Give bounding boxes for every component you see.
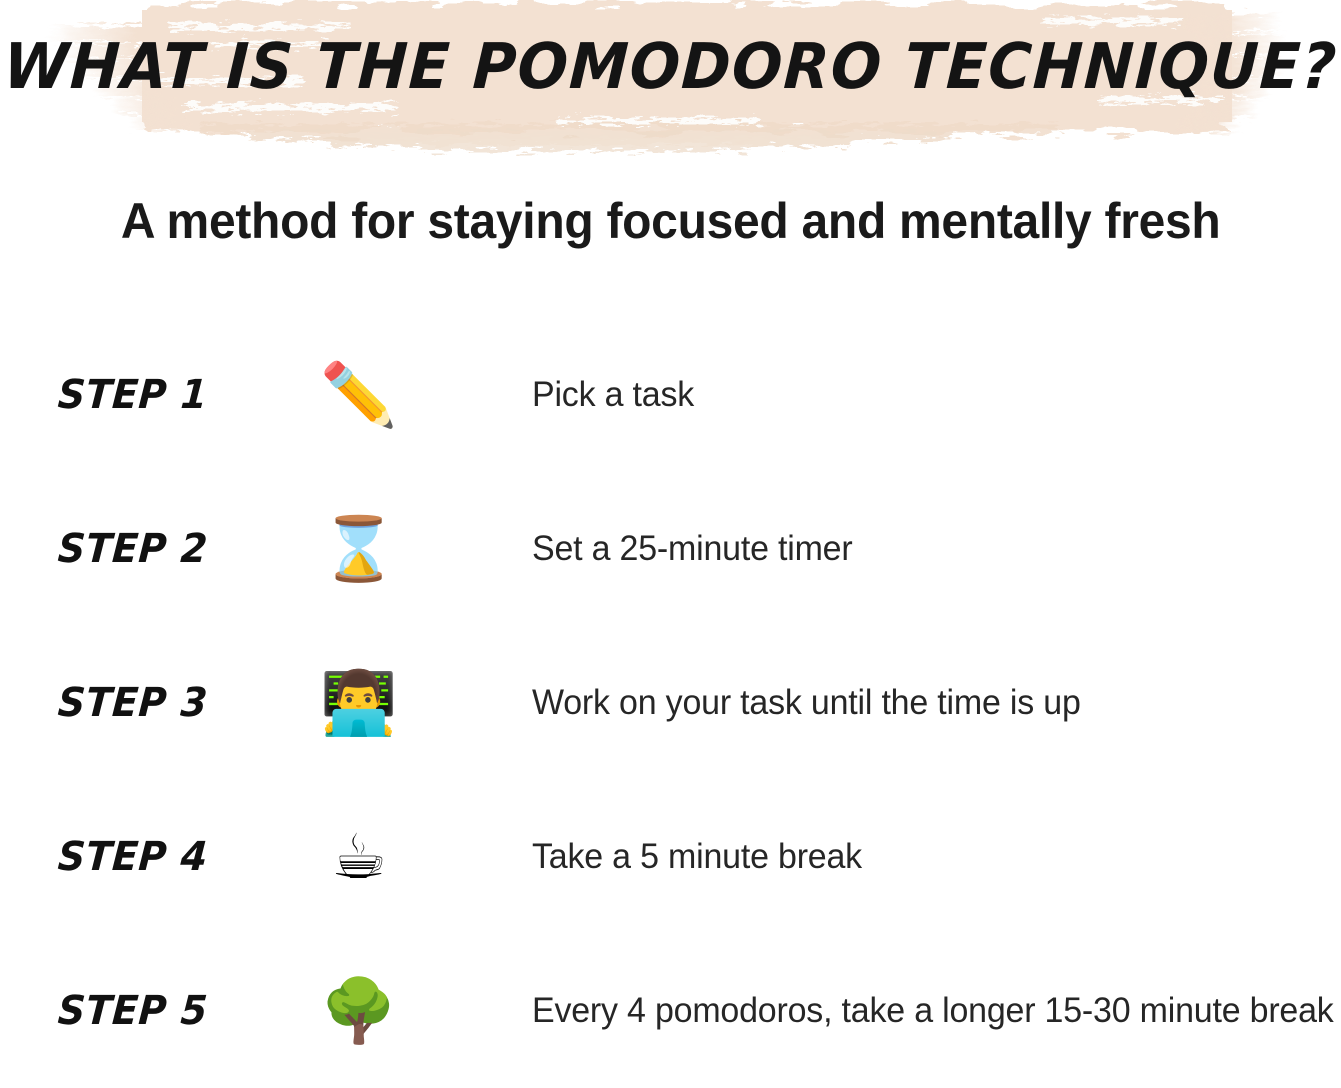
person-with-laptop-emoji: 👨‍💻 [313,672,405,734]
coffee-cup-emoji: ☕ [313,826,405,888]
page-title-text: WHAT IS THE POMODORO TECHNIQUE? [2,30,1339,103]
steps-list: STEP 1 ✏️ Pick a task STEP 2 ⌛ Set a 25-… [0,318,1341,1088]
step-row: STEP 1 ✏️ Pick a task [0,318,1341,472]
step-row: STEP 5 🌳 Every 4 pomodoros, take a longe… [0,934,1341,1088]
step-label: STEP 2 [56,526,287,572]
step-description: Pick a task [532,375,694,415]
hourglass-emoji: ⌛ [313,518,405,580]
step-description: Every 4 pomodoros, take a longer 15-30 m… [532,991,1334,1031]
step-label: STEP 1 [56,372,287,418]
step-label: STEP 4 [56,834,287,880]
tree-emoji: 🌳 [313,980,405,1042]
page-subtitle: A method for staying focused and mentall… [0,192,1341,250]
step-description: Work on your task until the time is up [532,683,1081,723]
step-label: STEP 3 [56,680,287,726]
step-row: STEP 4 ☕ Take a 5 minute break [0,780,1341,934]
pencil-emoji: ✏️ [313,364,405,426]
step-row: STEP 2 ⌛ Set a 25-minute timer [0,472,1341,626]
step-label: STEP 5 [56,988,287,1034]
step-description: Set a 25-minute timer [532,529,852,569]
step-row: STEP 3 👨‍💻 Work on your task until the t… [0,626,1341,780]
step-description: Take a 5 minute break [532,837,862,877]
page-title: WHAT IS THE POMODORO TECHNIQUE? [0,0,1341,158]
page-subtitle-text: A method for staying focused and mentall… [121,192,1221,250]
title-banner: WHAT IS THE POMODORO TECHNIQUE? [0,0,1341,158]
